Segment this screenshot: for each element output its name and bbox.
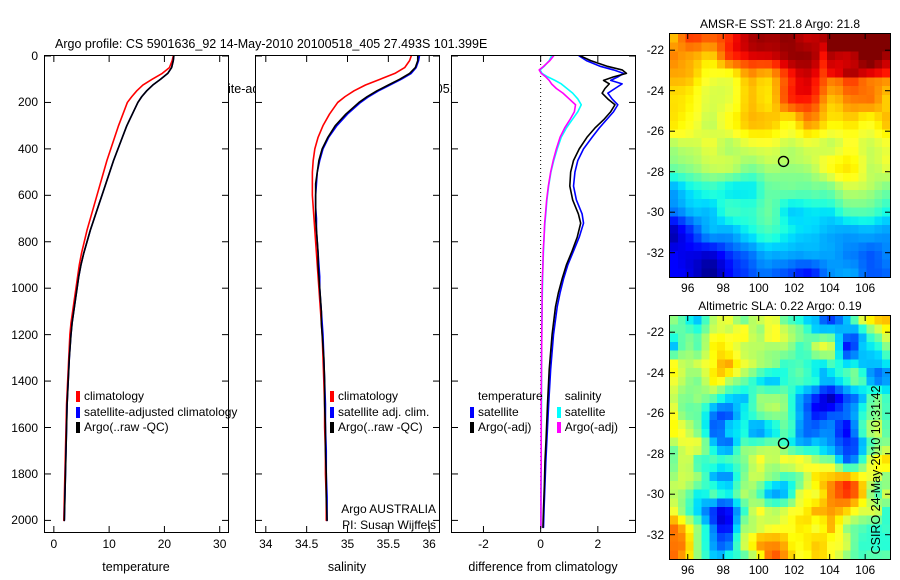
legend-label: Argo(..raw -QC) [338,420,423,436]
salinity-profile-panel[interactable] [255,55,440,533]
legend-label: Argo(..raw -QC) [84,420,169,436]
legend-column-header: salinity [557,389,618,405]
x-tick-label: 36 [423,537,436,551]
y-tick-label: 200 [0,95,38,109]
map-x-tick-label: 104 [820,281,840,295]
csiro-timestamp: CSIRO 24-May-2010 10:31:42 [866,380,886,560]
temperature-legend: climatologysatellite-adjusted climatolog… [76,389,237,436]
map-y-tick-label: -30 [631,487,664,501]
temperature-xaxis-label: temperature [102,560,169,574]
legend-label: satellite [478,405,519,421]
legend-item: climatology [76,389,237,405]
map-y-tick-label: -32 [631,246,664,260]
legend-swatch [76,391,80,402]
map-x-tick-label: 100 [749,563,769,577]
legend-swatch [76,422,80,433]
legend-item: Argo(-adj) [470,420,543,436]
map-y-tick-label: -24 [631,366,664,380]
y-tick-label: 600 [0,188,38,202]
legend-swatch [330,422,334,433]
difference-xaxis-label: difference from climatology [468,560,617,574]
salinity-legend: climatologysatellite adj. clim.Argo(..ra… [330,389,429,436]
credit-line1: Argo AUSTRALIA [240,502,436,518]
legend-label: climatology [338,389,398,405]
difference-legend: temperaturesatelliteArgo(-adj)salinitysa… [470,389,618,436]
map-y-tick-label: -26 [631,406,664,420]
difference-profile-panel[interactable] [451,55,636,533]
y-tick-label: 1800 [0,467,38,481]
x-tick-label: 35.5 [377,537,400,551]
argo-credit: Argo AUSTRALIA PI: Susan Wijffels [240,502,436,533]
y-tick-label: 1600 [0,421,38,435]
x-tick-label: 10 [102,537,115,551]
legend-label: climatology [84,389,144,405]
map-x-tick-label: 102 [784,563,804,577]
map-x-tick-label: 98 [717,281,730,295]
legend-label: Argo(-adj) [478,420,531,436]
salinity-xaxis-label: salinity [328,560,366,574]
x-tick-label: 35 [341,537,354,551]
legend-item: Argo(-adj) [557,420,618,436]
y-tick-label: 400 [0,142,38,156]
x-tick-label: 34 [259,537,272,551]
legend-column: salinitysatelliteArgo(-adj) [557,389,618,436]
x-tick-label: 0 [537,537,544,551]
x-tick-label: 0 [51,537,58,551]
y-tick-label: 1000 [0,281,38,295]
map-x-tick-label: 98 [717,563,730,577]
map-y-tick-label: -22 [631,325,664,339]
legend-item: Argo(..raw -QC) [330,420,429,436]
credit-line2: PI: Susan Wijffels [240,518,436,534]
salinity-profile-plot [256,56,439,532]
legend-swatch [557,422,561,433]
y-tick-label: 1200 [0,328,38,342]
legend-label: satellite-adjusted climatology [84,405,237,421]
sla-map-image [670,316,890,559]
sla-map-title: Altimetric SLA: 0.22 Argo: 0.19 [698,299,861,313]
legend-swatch [470,422,474,433]
map-y-tick-label: -24 [631,84,664,98]
difference-profile-plot [452,56,635,532]
legend-swatch [330,407,334,418]
temperature-profile-panel[interactable] [44,55,229,533]
x-tick-label: -2 [478,537,489,551]
map-y-tick-label: -30 [631,205,664,219]
legend-item: satellite [470,405,543,421]
x-tick-label: 20 [158,537,171,551]
sst-map-title: AMSR-E SST: 21.8 Argo: 21.8 [700,17,860,31]
sla-map-panel[interactable] [669,315,891,560]
map-x-tick-label: 96 [681,281,694,295]
y-tick-label: 2000 [0,513,38,527]
y-tick-label: 1400 [0,374,38,388]
x-tick-label: 34.5 [295,537,318,551]
legend-column: temperaturesatelliteArgo(-adj) [470,389,543,436]
x-tick-label: 30 [213,537,226,551]
legend-item: satellite-adjusted climatology [76,405,237,421]
legend-label: satellite [565,405,606,421]
map-x-tick-label: 100 [749,281,769,295]
sst-map-image [670,34,890,277]
legend-item: satellite adj. clim. [330,405,429,421]
legend-column-header: temperature [470,389,543,405]
legend-swatch [470,407,474,418]
y-tick-label: 0 [0,49,38,63]
difference-legend-columns: temperaturesatelliteArgo(-adj)salinitysa… [470,389,618,436]
map-y-tick-label: -28 [631,447,664,461]
legend-item: Argo(..raw -QC) [76,420,237,436]
legend-swatch [330,391,334,402]
legend-item: climatology [330,389,429,405]
map-x-tick-label: 102 [784,281,804,295]
legend-label: Argo(-adj) [565,420,618,436]
legend-label: satellite adj. clim. [338,405,429,421]
map-x-tick-label: 106 [855,563,875,577]
legend-item: satellite [557,405,618,421]
temperature-profile-plot [45,56,228,532]
map-y-tick-label: -32 [631,528,664,542]
map-y-tick-label: -22 [631,43,664,57]
csiro-timestamp-text: CSIRO 24-May-2010 10:31:42 [869,386,883,555]
map-y-tick-label: -28 [631,165,664,179]
y-tick-label: 800 [0,235,38,249]
sst-map-panel[interactable] [669,33,891,278]
legend-swatch [76,407,80,418]
legend-swatch [557,407,561,418]
map-x-tick-label: 104 [820,563,840,577]
map-x-tick-label: 106 [855,281,875,295]
map-y-tick-label: -26 [631,124,664,138]
map-x-tick-label: 96 [681,563,694,577]
x-tick-label: 2 [594,537,601,551]
figure-title-line1: Argo profile: CS 5901636_92 14-May-2010 … [55,37,675,52]
